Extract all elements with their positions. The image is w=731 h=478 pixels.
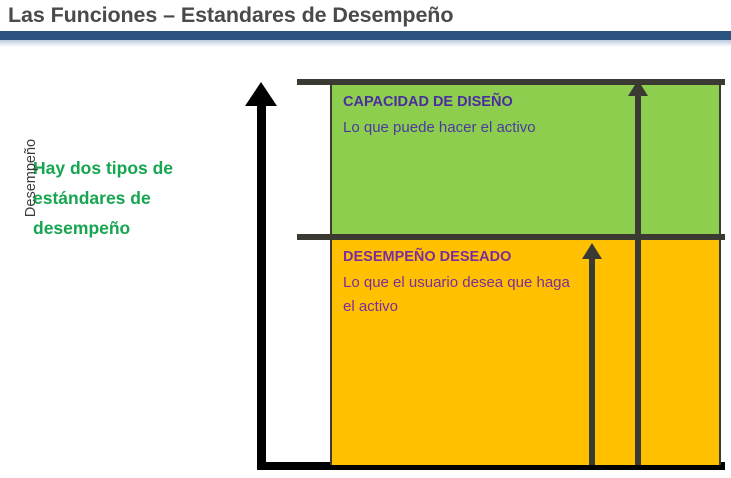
design-capacity-arrow-icon (628, 80, 648, 96)
title-accent-fade (0, 40, 731, 47)
design-capacity-title: CAPACIDAD DE DISEÑO (343, 94, 513, 110)
design-capacity-arrow-shaft (635, 88, 641, 465)
desired-performance-arrow-icon (582, 243, 602, 259)
left-caption: Hay dos tipos de estándares de desempeño (33, 153, 218, 243)
design-capacity-level-line (297, 79, 725, 85)
slide-title-bar: Las Funciones – Estandares de Desempeño (0, 0, 731, 31)
y-axis-line (257, 103, 266, 465)
desired-performance-arrow-shaft (589, 253, 595, 465)
desired-performance-subtitle: Lo que el usuario desea que haga el acti… (343, 271, 578, 319)
title-accent-rule (0, 31, 731, 40)
y-axis-label: Desempeño (23, 113, 39, 243)
slide-canvas: Las Funciones – Estandares de Desempeño … (0, 0, 731, 478)
page-title: Las Funciones – Estandares de Desempeño (8, 1, 453, 29)
desired-performance-title: DESEMPEÑO DESEADO (343, 249, 511, 265)
desired-performance-level-line (297, 234, 725, 240)
design-capacity-subtitle: Lo que puede hacer el activo (343, 116, 643, 140)
